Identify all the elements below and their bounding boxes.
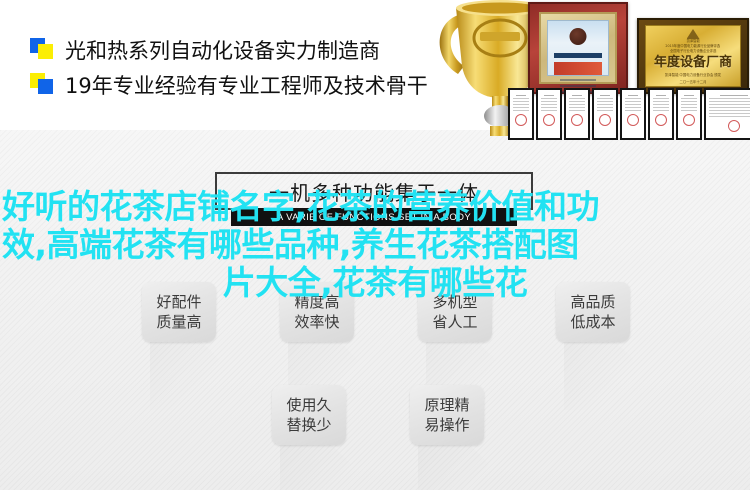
certificate-item: [648, 88, 674, 140]
feature-card: 使用久 替换少: [272, 385, 346, 445]
banner-stage: 光和热系列自动化设备实力制造商 19年专业经验有专业工程师及技术骨干: [0, 0, 750, 490]
feature-card-line2: 效率快: [294, 312, 339, 332]
seal-icon: [515, 114, 527, 126]
headline-list: 光和热系列自动化设备实力制造商 19年专业经验有专业工程师及技术骨干: [30, 34, 428, 104]
brand-logo-icon: [687, 29, 700, 39]
seal-icon: [655, 114, 667, 126]
overlay-title-line1: 好听的花茶店铺名字,花茶的营养价值和功: [0, 188, 750, 226]
square-pair-blue-yellow-icon: [30, 38, 56, 61]
gold-plaque-title: 年度设备厂商: [654, 55, 732, 70]
feature-card-line2: 省人工: [432, 312, 477, 332]
overlay-title-line3: 片大全,花茶有哪些花: [0, 264, 750, 302]
gold-plaque-brand: 凯泽智能: [686, 39, 699, 44]
certificate-item: [508, 88, 534, 140]
certificate-item: [676, 88, 702, 140]
red-award-plaque: [528, 2, 628, 94]
feature-card-line2: 低成本: [570, 312, 615, 332]
certificate-item: [564, 88, 590, 140]
overlay-title: 好听的花茶店铺名字,花茶的营养价值和功 效,高端花茶有哪些品种,养生花茶搭配图 …: [0, 188, 750, 302]
seal-icon: [627, 114, 639, 126]
gold-plaque-subtitle2: 全国电子行业电力设备企业评选: [670, 49, 716, 54]
certificate-item: [592, 88, 618, 140]
feature-card-line1: 原理精: [424, 395, 469, 415]
headline-text-1: 光和热系列自动化设备实力制造商: [65, 35, 380, 65]
feature-card: 原理精 易操作: [410, 385, 484, 445]
feature-card-line2: 替换少: [286, 415, 331, 435]
certificate-item-featured: [704, 88, 750, 140]
seal-icon: [599, 114, 611, 126]
certificate-item: [536, 88, 562, 140]
headline-text-2: 19年专业经验有专业工程师及技术骨干: [65, 70, 428, 100]
certificate-item: [620, 88, 646, 140]
gold-award-plaque: 凯泽智能 2015年度中国电力能源行业品牌评选 全国电子行业电力设备企业评选 年…: [637, 18, 749, 94]
seal-icon: [543, 114, 555, 126]
seal-icon: [728, 120, 740, 132]
headline-row-2: 19年专业经验有专业工程师及技术骨干: [30, 69, 428, 100]
feature-card-line1: 使用久: [286, 395, 331, 415]
gold-plaque-footer2: 二〇一五年十二月: [679, 79, 706, 84]
overlay-title-line2: 效,高端花茶有哪些品种,养生花茶搭配图: [0, 226, 750, 264]
header-band: 光和热系列自动化设备实力制造商 19年专业经验有专业工程师及技术骨干: [0, 0, 750, 130]
gold-plaque-subtitle: 2015年度中国电力能源行业品牌评选: [666, 44, 721, 49]
seal-icon: [683, 114, 695, 126]
headline-row-1: 光和热系列自动化设备实力制造商: [30, 34, 428, 65]
certificate-strip: [508, 88, 750, 140]
square-pair-yellow-blue-icon: [30, 73, 56, 96]
feature-card-line2: 质量高: [156, 312, 201, 332]
feature-card-line2: 易操作: [424, 415, 469, 435]
gold-plaque-footer: 凯泽智能 中国电力设备行业协会 颁发: [665, 72, 721, 77]
seal-icon: [571, 114, 583, 126]
